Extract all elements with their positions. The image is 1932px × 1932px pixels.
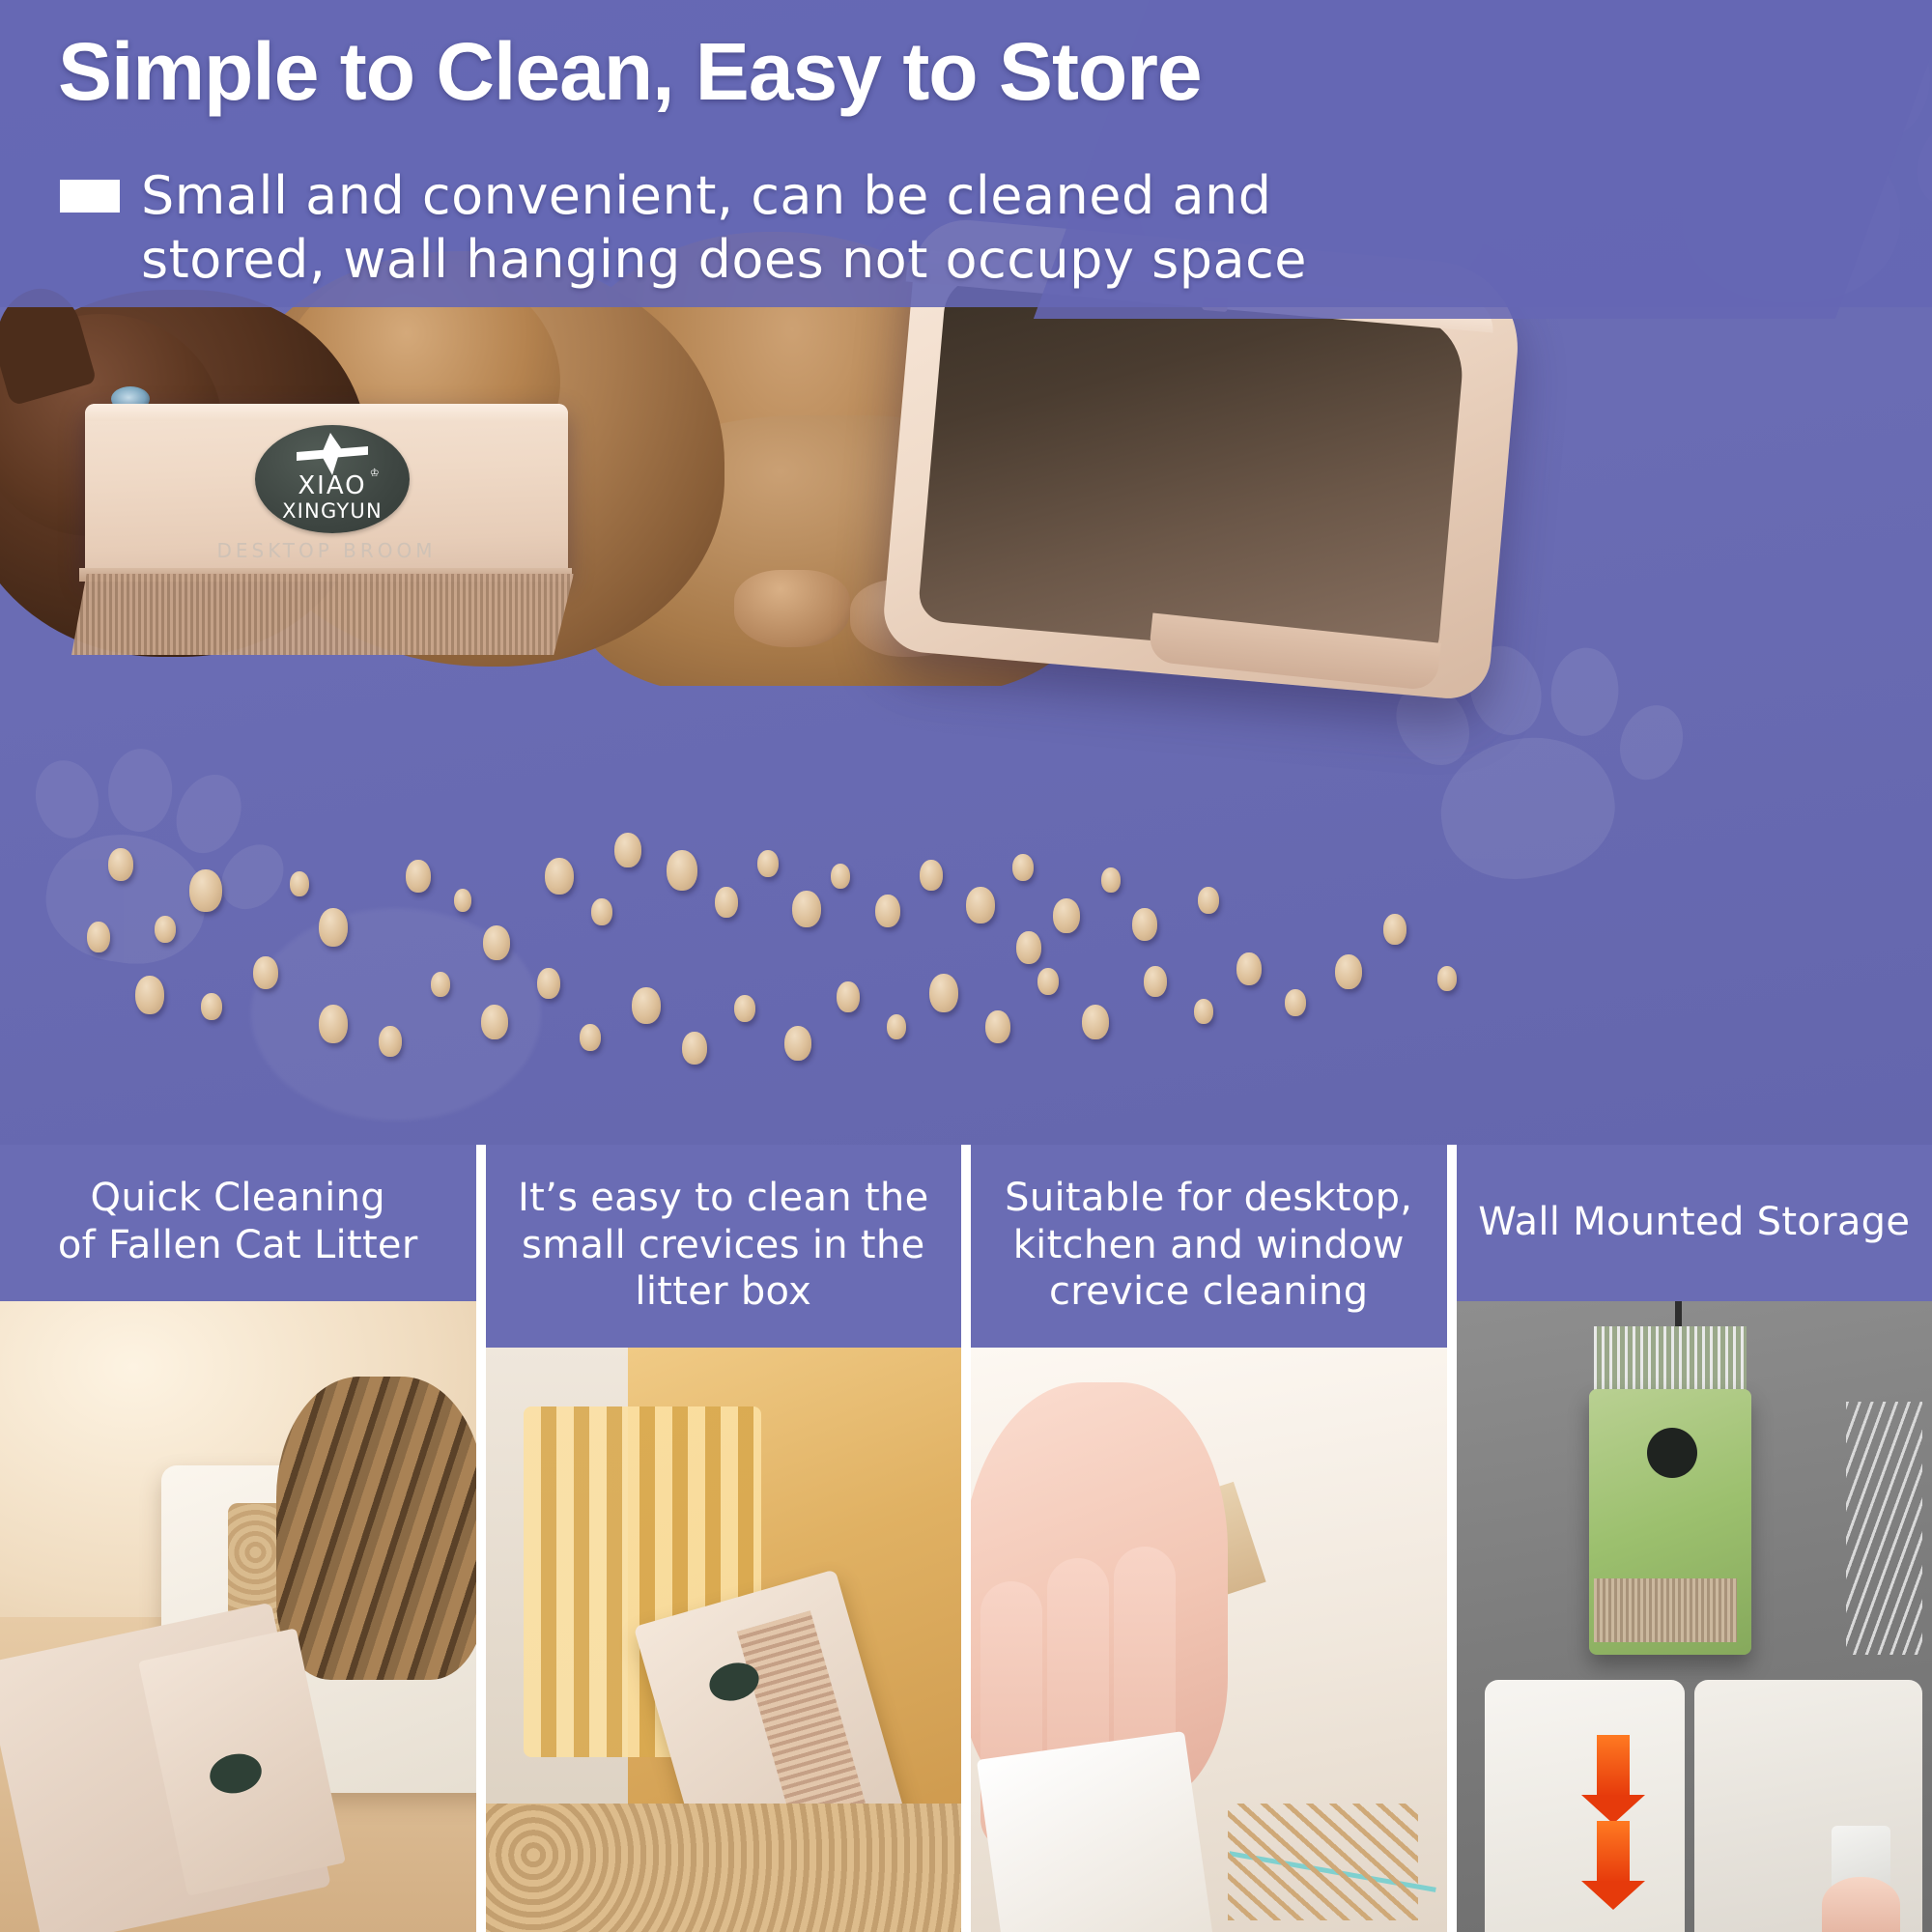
caption-line: Quick Cleaning — [58, 1175, 418, 1222]
feature-photo-2 — [486, 1348, 962, 1932]
subtitle-line-1: Small and convenient, can be cleaned and — [141, 164, 1571, 228]
cat-litter — [486, 1804, 962, 1932]
subtitle-line-2: stored, wall hanging does not occupy spa… — [141, 228, 1571, 292]
caption-line: It’s easy to clean the — [518, 1175, 929, 1222]
feature-cell-3: Suitable for desktop, kitchen and window… — [971, 1145, 1447, 1932]
page-title: Simple to Clean, Easy to Store — [58, 31, 1202, 112]
crown-icon: ♔ — [370, 468, 382, 478]
brand-logo-small — [1647, 1428, 1697, 1478]
down-arrow-icon — [1597, 1821, 1630, 1883]
feature-photo-4 — [1457, 1301, 1932, 1932]
hand — [1822, 1877, 1899, 1932]
feature-cell-4: Wall Mounted Storage — [1457, 1145, 1932, 1932]
dustpan-interior — [917, 273, 1466, 666]
caption-line: small crevices in the — [518, 1222, 929, 1269]
adhesive-inset — [1694, 1680, 1922, 1932]
cat-paw — [734, 570, 850, 647]
broom-top-edge — [85, 404, 568, 421]
debris — [1228, 1804, 1418, 1920]
caption-line: crevice cleaning — [1005, 1268, 1412, 1316]
brand-name-primary: XIAO ♔ — [298, 473, 366, 498]
assembly-inset — [1485, 1680, 1685, 1932]
wire-rack — [1846, 1402, 1922, 1654]
feature-cell-2: It’s easy to clean the small crevices in… — [486, 1145, 962, 1932]
feature-caption-3: Suitable for desktop, kitchen and window… — [971, 1145, 1447, 1348]
star-swoosh-icon — [297, 433, 368, 475]
broom-in-scene — [977, 1731, 1213, 1932]
feature-caption-2: It’s easy to clean the small crevices in… — [486, 1145, 962, 1348]
feature-caption-4: Wall Mounted Storage — [1457, 1145, 1932, 1301]
brand-name-secondary: XINGYUN — [282, 498, 383, 524]
page-subtitle: Small and convenient, can be cleaned and… — [141, 164, 1571, 292]
product-broom: XIAO ♔ XINGYUN DESKTOP BROOM — [85, 404, 568, 665]
feature-grid: Quick Cleaning of Fallen Cat Litter It’s… — [0, 1145, 1932, 1932]
feature-photo-1 — [0, 1301, 476, 1932]
caption-line: of Fallen Cat Litter — [58, 1222, 418, 1269]
hero-section: XIAO ♔ XINGYUN DESKTOP BROOM — [0, 0, 1932, 1145]
feature-caption-1: Quick Cleaning of Fallen Cat Litter — [0, 1145, 476, 1301]
feature-photo-3 — [971, 1348, 1447, 1932]
broom-bristles-small — [1594, 1578, 1737, 1641]
caption-line: litter box — [518, 1268, 929, 1316]
broom-bristles — [71, 574, 574, 655]
brand-logo: XIAO ♔ XINGYUN — [255, 425, 410, 533]
feature-cell-1: Quick Cleaning of Fallen Cat Litter — [0, 1145, 476, 1932]
tabby-cat — [276, 1377, 476, 1679]
caption-line: kitchen and window — [1005, 1222, 1412, 1269]
infographic-page: XIAO ♔ XINGYUN DESKTOP BROOM — [0, 0, 1932, 1932]
down-arrow-icon — [1597, 1735, 1630, 1797]
square-bullet-icon — [60, 180, 120, 213]
caption-line: Suitable for desktop, — [1005, 1175, 1412, 1222]
caption-line: Wall Mounted Storage — [1478, 1199, 1910, 1246]
product-label: DESKTOP BROOM — [85, 539, 568, 562]
